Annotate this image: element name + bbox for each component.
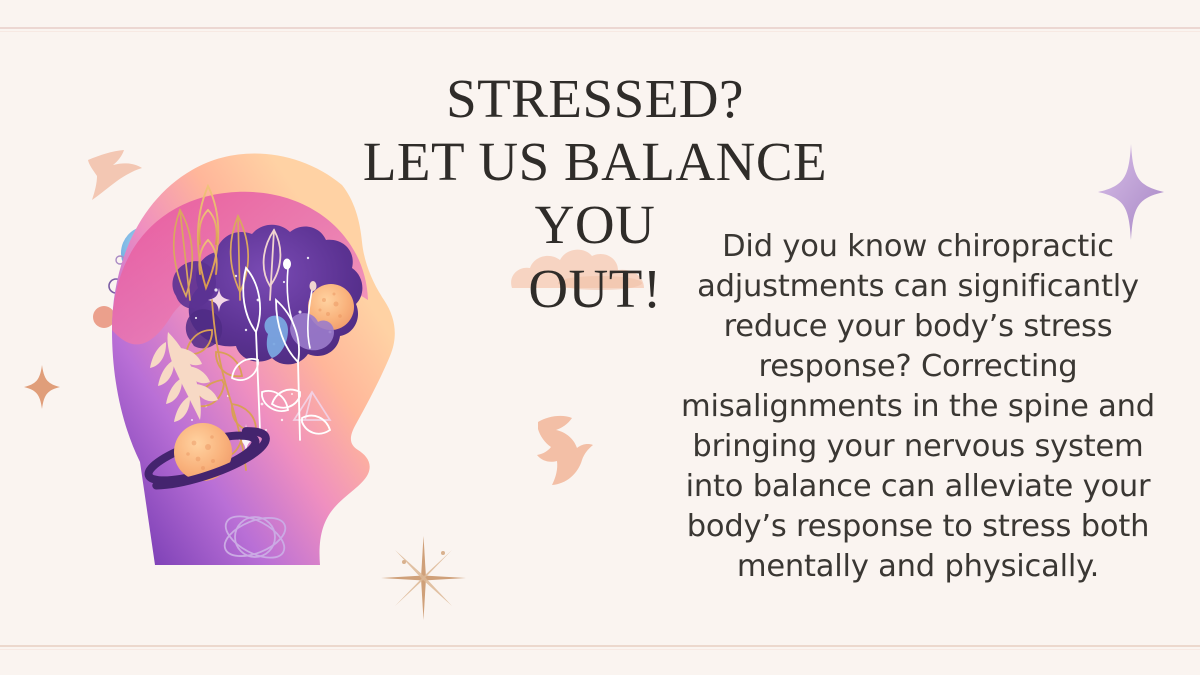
bird-top-left-icon [88,150,142,200]
frame-rule-bottom-secondary [0,649,1200,650]
planet-saturn-icon [144,423,271,491]
dot-salmon-icon [93,306,115,328]
frame-rule-top [0,27,1200,29]
circle-outline-medium-icon [132,275,154,297]
circle-outline-small-icon [109,279,123,293]
bird-center-icon [537,416,593,485]
body-paragraph: Did you know chiropractic adjustments ca… [672,227,1164,587]
frame-rule-top-secondary [0,31,1200,32]
poster-canvas: STRESSED? LET US BALANCE YOU OUT! Did yo… [0,0,1200,675]
sparkle-small-upper-left-icon [152,210,184,242]
planet-blue-icon [121,226,175,280]
frame-rule-bottom [0,645,1200,647]
sparkle-four-point-left-icon [24,365,60,409]
orbit-rings-outline-icon [219,508,291,566]
pyramid-outline-icon [294,392,330,420]
sparkle-eight-point-icon [381,536,466,620]
circle-outline-tiny-icon [116,256,124,264]
